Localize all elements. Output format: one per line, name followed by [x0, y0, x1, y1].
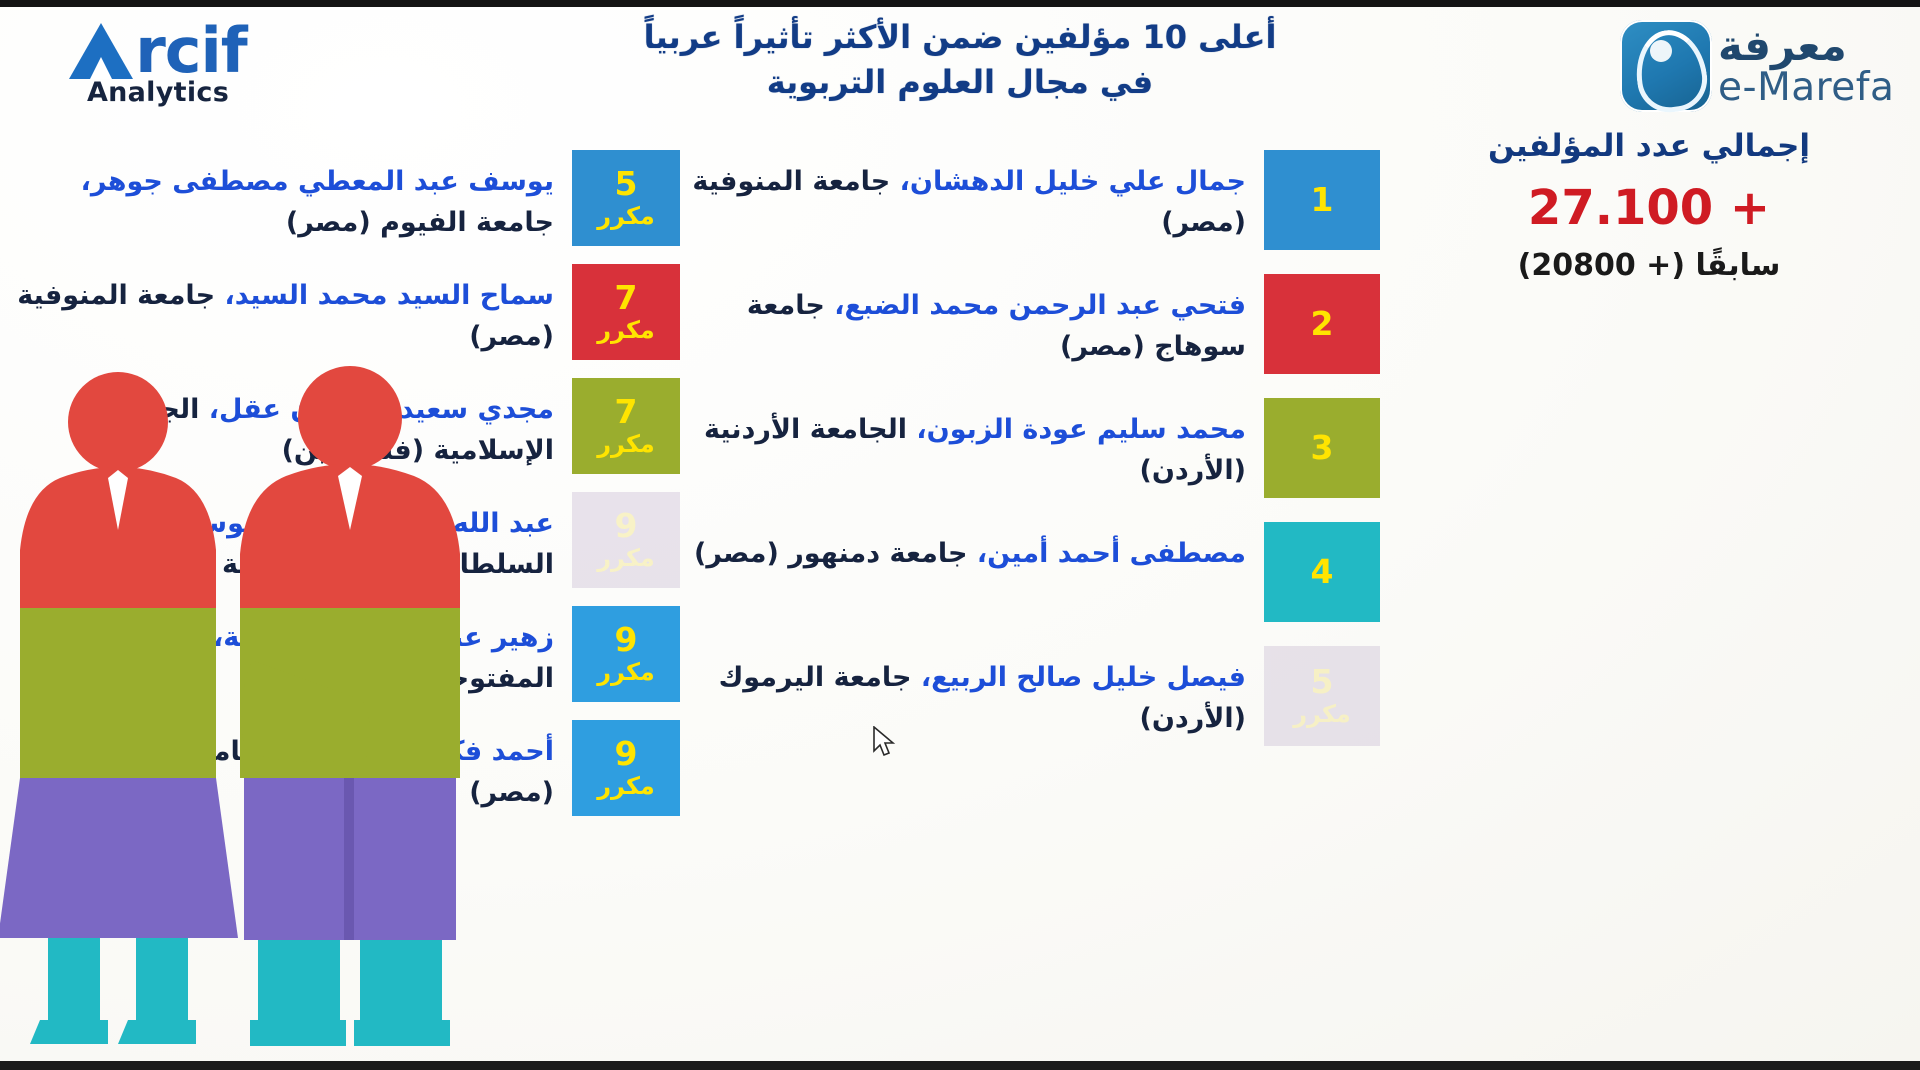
- two-people-silhouettes: [0, 360, 470, 1060]
- author-entry-text: مصطفى أحمد أمين، جامعة دمنهور (مصر): [690, 522, 1246, 575]
- rank-badge: 7مكرر: [572, 378, 680, 474]
- rank-number: 7: [615, 281, 638, 316]
- ranking-entry[interactable]: 7مكررسماح السيد محمد السيد، جامعة المنوف…: [0, 264, 680, 360]
- rank-badge: 9مكرر: [572, 720, 680, 816]
- total-authors-label: إجمالي عدد المؤلفين: [1414, 128, 1884, 164]
- rank-badge: 3: [1264, 398, 1380, 498]
- author-name: مصطفى أحمد أمين،: [977, 538, 1246, 569]
- rank-duplicate-label: مكرر: [597, 318, 655, 343]
- rank-badge: 2: [1264, 274, 1380, 374]
- author-country: (مصر): [694, 538, 788, 569]
- rank-duplicate-label: مكرر: [1293, 702, 1351, 727]
- ranking-column-right: 1جمال علي خليل الدهشان، جامعة المنوفية (…: [690, 150, 1380, 770]
- rank-badge: 4: [1264, 522, 1380, 622]
- author-name: سماح السيد محمد السيد،: [224, 280, 554, 311]
- author-affiliation: جامعة المنوفية: [17, 280, 224, 311]
- rank-number: 4: [1311, 555, 1334, 590]
- author-country: (مصر): [1060, 331, 1154, 362]
- rank-number: 5: [1311, 665, 1334, 700]
- author-country: (الأردن): [1140, 455, 1246, 486]
- man-silhouette: [240, 366, 460, 1046]
- author-entry-text: فيصل خليل صالح الربيع، جامعة اليرموك (ال…: [690, 646, 1246, 739]
- woman-silhouette: [0, 372, 238, 1044]
- emarefa-logo-arabic: معرفة: [1718, 24, 1847, 68]
- header: معرفة e-Marefa أعلى 10 مؤلفين ضمن الأكثر…: [0, 7, 1920, 125]
- total-authors-panel: إجمالي عدد المؤلفين 27.100 + سابقًا (+ 2…: [1414, 128, 1884, 283]
- author-affiliation: الجامعة الأردنية: [704, 414, 916, 445]
- rank-duplicate-label: مكرر: [597, 774, 655, 799]
- author-entry-text: جمال علي خليل الدهشان، جامعة المنوفية (م…: [690, 150, 1246, 243]
- author-name: فتحي عبد الرحمن محمد الضبع،: [834, 290, 1246, 321]
- author-name: محمد سليم عودة الزبون،: [916, 414, 1246, 445]
- author-country: (مصر): [286, 207, 380, 238]
- emarefa-logo[interactable]: معرفة e-Marefa: [1620, 11, 1910, 121]
- arcif-logo[interactable]: rcif Analytics: [18, 13, 298, 117]
- rank-number: 9: [615, 509, 638, 544]
- ranking-entry[interactable]: 5مكررفيصل خليل صالح الربيع، جامعة اليرمو…: [690, 646, 1380, 746]
- emarefa-logo-latin: e-Marefa: [1718, 68, 1894, 109]
- author-country: (مصر): [469, 321, 554, 352]
- rank-badge: 9مكرر: [572, 492, 680, 588]
- top-border: [0, 0, 1920, 7]
- rank-number: 9: [615, 623, 638, 658]
- mouse-pointer-icon: [872, 726, 898, 760]
- author-entry-text: يوسف عبد المعطي مصطفى جوهر، جامعة الفيوم…: [0, 150, 554, 243]
- rank-badge: 7مكرر: [572, 264, 680, 360]
- author-affiliation: جامعة المنوفية: [692, 166, 899, 197]
- emarefa-droplet-icon: [1620, 20, 1712, 112]
- author-affiliation: جامعة اليرموك: [719, 662, 921, 693]
- arcif-logo-text: rcif: [135, 22, 247, 79]
- rank-duplicate-label: مكرر: [597, 432, 655, 457]
- rank-badge: 1: [1264, 150, 1380, 250]
- rank-number: 1: [1311, 183, 1334, 218]
- rank-badge: 5مكرر: [1264, 646, 1380, 746]
- bottom-border: [0, 1061, 1920, 1070]
- ranking-entry[interactable]: 4مصطفى أحمد أمين، جامعة دمنهور (مصر): [690, 522, 1380, 622]
- author-affiliation: جامعة دمنهور: [788, 538, 977, 569]
- ranking-entry[interactable]: 3محمد سليم عودة الزبون، الجامعة الأردنية…: [690, 398, 1380, 498]
- rank-number: 5: [615, 167, 638, 202]
- page-title: أعلى 10 مؤلفين ضمن الأكثر تأثيراً عربياً…: [470, 15, 1450, 106]
- rank-number: 7: [615, 395, 638, 430]
- rank-duplicate-label: مكرر: [597, 660, 655, 685]
- author-entry-text: فتحي عبد الرحمن محمد الضبع، جامعة سوهاج …: [690, 274, 1246, 367]
- ranking-entry[interactable]: 1جمال علي خليل الدهشان، جامعة المنوفية (…: [690, 150, 1380, 250]
- emarefa-logo-text: معرفة e-Marefa: [1718, 24, 1894, 108]
- total-authors-value: 27.100 +: [1414, 180, 1884, 236]
- rank-badge: 9مكرر: [572, 606, 680, 702]
- author-name: يوسف عبد المعطي مصطفى جوهر،: [81, 166, 554, 197]
- ranking-entry[interactable]: 2فتحي عبد الرحمن محمد الضبع، جامعة سوهاج…: [690, 274, 1380, 374]
- arcif-logo-subtitle: Analytics: [87, 77, 229, 108]
- author-country: (مصر): [469, 777, 554, 808]
- author-country: (الأردن): [1140, 703, 1246, 734]
- author-entry-text: محمد سليم عودة الزبون، الجامعة الأردنية …: [690, 398, 1246, 491]
- rank-duplicate-label: مكرر: [597, 546, 655, 571]
- rank-number: 2: [1311, 307, 1334, 342]
- author-country: (مصر): [1161, 207, 1246, 238]
- arcif-logo-word: rcif: [69, 22, 247, 79]
- author-entry-text: سماح السيد محمد السيد، جامعة المنوفية (م…: [0, 264, 554, 357]
- total-authors-previous: سابقًا (+ 20800): [1414, 248, 1884, 283]
- page-title-line-2: في مجال العلوم التربوية: [470, 60, 1450, 105]
- author-affiliation: جامعة الفيوم: [380, 207, 554, 238]
- ranking-entry[interactable]: 5مكرريوسف عبد المعطي مصطفى جوهر، جامعة ا…: [0, 150, 680, 246]
- rank-duplicate-label: مكرر: [597, 204, 655, 229]
- arcif-triangle-a-icon: [69, 23, 133, 79]
- author-name: جمال علي خليل الدهشان،: [900, 166, 1246, 197]
- page-title-line-1: أعلى 10 مؤلفين ضمن الأكثر تأثيراً عربياً: [644, 18, 1277, 56]
- rank-number: 3: [1311, 431, 1334, 466]
- rank-number: 9: [615, 737, 638, 772]
- author-name: فيصل خليل صالح الربيع،: [921, 662, 1246, 693]
- rank-badge: 5مكرر: [572, 150, 680, 246]
